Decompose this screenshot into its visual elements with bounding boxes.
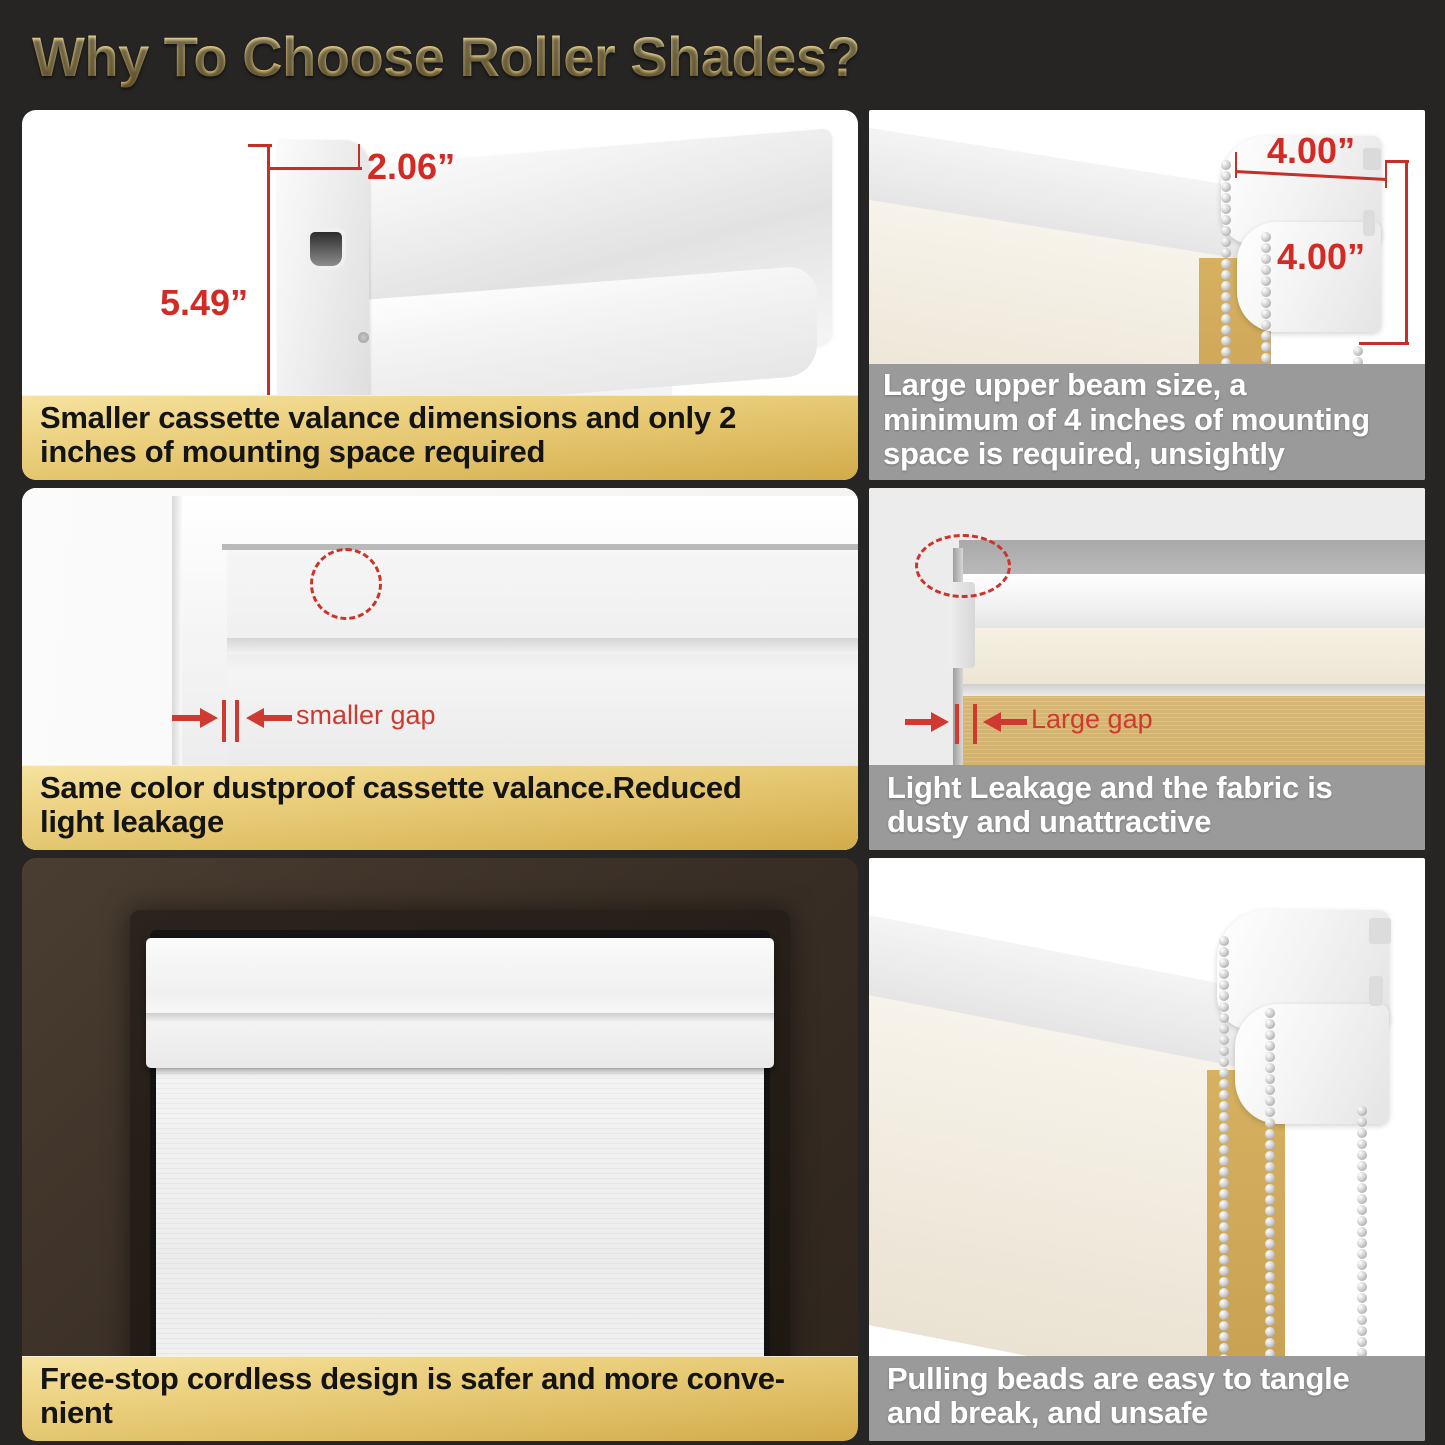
gap-arrow-right-icon [244, 704, 292, 734]
valance-screw-upper [358, 332, 369, 343]
caption-smaller-cassette: Smaller cassette valance dimensions and … [22, 395, 858, 480]
caption-line: dusty and unattractive [887, 805, 1332, 840]
cassette-shade-rail [227, 638, 858, 654]
cassette-top-seam [222, 544, 858, 550]
caption-line: light leakage [40, 805, 741, 840]
caption-text: Light Leakage and the fabric is dusty an… [887, 771, 1332, 840]
panel-smaller-cassette: 2.06” 5.49” Smaller cassette valance dim… [22, 110, 858, 480]
caption-line: minimum of 4 inches of mounting [883, 403, 1370, 438]
roller-shade-beads-illustration [869, 858, 1425, 1441]
dim-line-beam-height [1405, 160, 1408, 345]
panel-image-pulling-beads [869, 858, 1425, 1441]
valance-end-cap [277, 140, 369, 420]
bracket-notch-top [1363, 148, 1381, 170]
dim-tick-right [1385, 162, 1387, 188]
dimension-label-beam-height: 4.00” [1277, 236, 1365, 278]
bead-chain-middle [1265, 1008, 1275, 1382]
window-casing-edge [172, 496, 182, 796]
shade-fabric [156, 1064, 764, 1394]
gap-arrow-left-icon [905, 708, 951, 738]
dimension-label-beam-width: 4.00” [1267, 130, 1355, 172]
caption-line: inches of mounting space required [40, 435, 736, 470]
gap-arrow-right-icon [981, 708, 1027, 738]
caption-line: Large upper beam size, a [883, 368, 1370, 403]
caption-text: Free-stop cordless design is safer and m… [40, 1362, 785, 1431]
gap-label-large: Large gap [1031, 704, 1153, 735]
gap-marker-left [955, 704, 959, 744]
valance-slot [310, 232, 342, 266]
caption-text: Same color dustproof cassette valance.Re… [40, 771, 741, 840]
panel-free-stop-cordless: Free-stop cordless design is safer and m… [22, 858, 858, 1441]
caption-line: Pulling beads are easy to tangle [887, 1362, 1349, 1397]
caption-line: space is required, unsightly [883, 437, 1370, 472]
gap-marker-right [973, 704, 977, 744]
dim-cap-top [248, 144, 272, 147]
page-title: Why To Choose Roller Shades? [32, 24, 860, 89]
dimension-label-height: 5.49” [160, 282, 248, 324]
bead-chain-left [1219, 936, 1229, 1376]
highlight-circle-leak [915, 534, 1011, 598]
gap-arrow-left-icon [172, 704, 220, 734]
caption-text: Large upper beam size, a minimum of 4 in… [883, 368, 1370, 472]
caption-light-leakage: Light Leakage and the fabric is dusty an… [869, 765, 1425, 850]
shade-valance-seam [146, 1013, 774, 1022]
panel-large-upper-beam: 4.00” 4.00” Large upper beam size, a min… [869, 110, 1425, 480]
dimension-label-width: 2.06” [367, 146, 455, 188]
shade-cassette-valance [146, 938, 774, 1068]
cream-band [961, 628, 1425, 686]
bracket-notch-top [1369, 918, 1391, 944]
gap-marker-right [235, 700, 239, 742]
caption-line: Light Leakage and the fabric is [887, 771, 1332, 806]
caption-line: and break, and unsafe [887, 1396, 1349, 1431]
comparison-grid: 2.06” 5.49” Smaller cassette valance dim… [0, 106, 1445, 1445]
caption-free-stop-cordless: Free-stop cordless design is safer and m… [22, 1356, 858, 1441]
dim-cap-beam-top [1385, 160, 1409, 163]
caption-text: Pulling beads are easy to tangle and bre… [887, 1362, 1349, 1431]
caption-line: Same color dustproof cassette valance.Re… [40, 771, 741, 806]
caption-line: nient [40, 1396, 785, 1431]
caption-large-upper-beam: Large upper beam size, a minimum of 4 in… [869, 364, 1425, 480]
highlight-circle-gap [310, 548, 382, 620]
dim-line-width [268, 167, 362, 170]
dim-tick-left [1235, 152, 1237, 178]
caption-line: Free-stop cordless design is safer and m… [40, 1362, 785, 1397]
caption-line: Smaller cassette valance dimensions and … [40, 401, 736, 436]
bracket-notch-mid [1369, 976, 1383, 1006]
bracket-notch-mid [1363, 210, 1375, 236]
panel-dustproof-valance: smaller gap Same color dustproof cassett… [22, 488, 858, 850]
panel-image-free-stop-cordless [22, 858, 858, 1441]
caption-pulling-beads: Pulling beads are easy to tangle and bre… [869, 1356, 1425, 1441]
dim-cap-beam-bottom [1359, 342, 1409, 345]
panel-light-leakage: Large gap Light Leakage and the fabric i… [869, 488, 1425, 850]
valance-rail [961, 684, 1425, 696]
caption-dustproof-valance: Same color dustproof cassette valance.Re… [22, 765, 858, 850]
caption-text: Smaller cassette valance dimensions and … [40, 401, 736, 470]
panel-pulling-beads: Pulling beads are easy to tangle and bre… [869, 858, 1425, 1441]
bead-chain-right [1357, 1106, 1367, 1392]
plain-valance [961, 574, 1425, 632]
gap-marker-left [222, 700, 226, 742]
gap-label-smaller: smaller gap [296, 700, 436, 731]
